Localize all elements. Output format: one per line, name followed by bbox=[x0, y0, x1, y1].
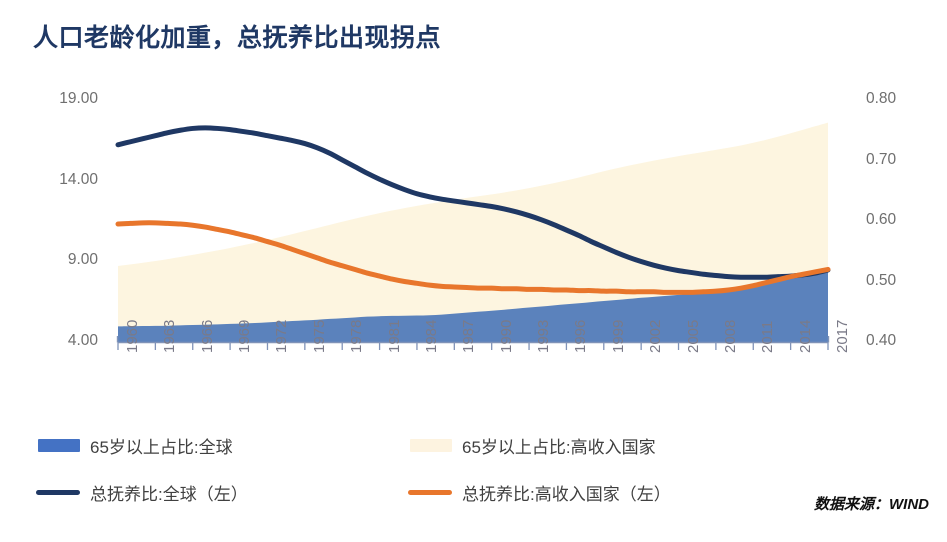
chart-figure: 人口老龄化加重，总抚养比出现拐点 4.009.0014.0019.00 0.40… bbox=[0, 0, 947, 542]
legend-label: 65岁以上占比:全球 bbox=[90, 433, 233, 458]
legend-swatch-line-icon bbox=[408, 490, 452, 495]
plot-svg bbox=[0, 0, 947, 420]
x-axis-tick-label: 1987 bbox=[460, 320, 477, 353]
x-axis-tick-label: 1966 bbox=[199, 320, 216, 353]
x-axis-tick-label: 1990 bbox=[498, 320, 515, 353]
y-axis-left-tick: 14.00 bbox=[28, 171, 98, 189]
y-axis-right-tick: 0.50 bbox=[866, 272, 896, 290]
legend-item-4[interactable]: 总抚养比:高收入国家（左） bbox=[408, 480, 671, 505]
x-axis-tick-label: 1981 bbox=[386, 320, 403, 353]
legend-swatch-box-icon bbox=[38, 439, 80, 452]
legend-item-1[interactable]: 65岁以上占比:全球 bbox=[38, 433, 233, 458]
x-axis-tick-label: 1960 bbox=[124, 320, 141, 353]
x-axis-tick-label: 1972 bbox=[273, 320, 290, 353]
x-axis-tick-label: 2011 bbox=[759, 321, 776, 353]
legend-label: 65岁以上占比:高收入国家 bbox=[462, 433, 656, 458]
x-axis-tick-label: 2005 bbox=[685, 320, 702, 353]
x-axis-tick-label: 1975 bbox=[311, 320, 328, 353]
x-axis-tick-label: 2002 bbox=[647, 320, 664, 353]
y-axis-left-tick: 9.00 bbox=[28, 251, 98, 269]
source-note: 数据来源：WIND bbox=[814, 493, 929, 514]
x-axis-tick-label: 1963 bbox=[161, 320, 178, 353]
y-axis-right-tick: 0.60 bbox=[866, 211, 896, 229]
plot-area: 4.009.0014.0019.00 0.400.500.600.700.80 … bbox=[0, 0, 947, 420]
legend-label: 总抚养比:高收入国家（左） bbox=[462, 480, 671, 505]
y-axis-right-tick: 0.40 bbox=[866, 332, 896, 350]
legend-item-2[interactable]: 65岁以上占比:高收入国家 bbox=[410, 433, 656, 458]
legend-label: 总抚养比:全球（左） bbox=[90, 480, 248, 505]
x-axis-tick-label: 1969 bbox=[236, 320, 253, 353]
x-axis-tick-label: 1999 bbox=[610, 320, 627, 353]
x-axis-tick-label: 1993 bbox=[535, 320, 552, 353]
x-axis-tick-label: 2008 bbox=[722, 320, 739, 353]
x-axis-tick-label: 1984 bbox=[423, 320, 440, 353]
legend-swatch-line-icon bbox=[36, 490, 80, 495]
x-axis-tick-label: 1978 bbox=[348, 320, 365, 353]
y-axis-right-tick: 0.80 bbox=[866, 90, 896, 108]
y-axis-left-tick: 4.00 bbox=[28, 332, 98, 350]
x-axis-tick-label: 2017 bbox=[834, 320, 851, 353]
x-axis-tick-label: 1996 bbox=[572, 320, 589, 353]
chart-legend: 65岁以上占比:全球65岁以上占比:高收入国家总抚养比:全球（左）总抚养比:高收… bbox=[0, 425, 947, 515]
y-axis-right-tick: 0.70 bbox=[866, 151, 896, 169]
legend-swatch-box-icon bbox=[410, 439, 452, 452]
y-axis-left-tick: 19.00 bbox=[28, 90, 98, 108]
legend-item-3[interactable]: 总抚养比:全球（左） bbox=[36, 480, 248, 505]
x-axis-tick-label: 2014 bbox=[797, 320, 814, 353]
